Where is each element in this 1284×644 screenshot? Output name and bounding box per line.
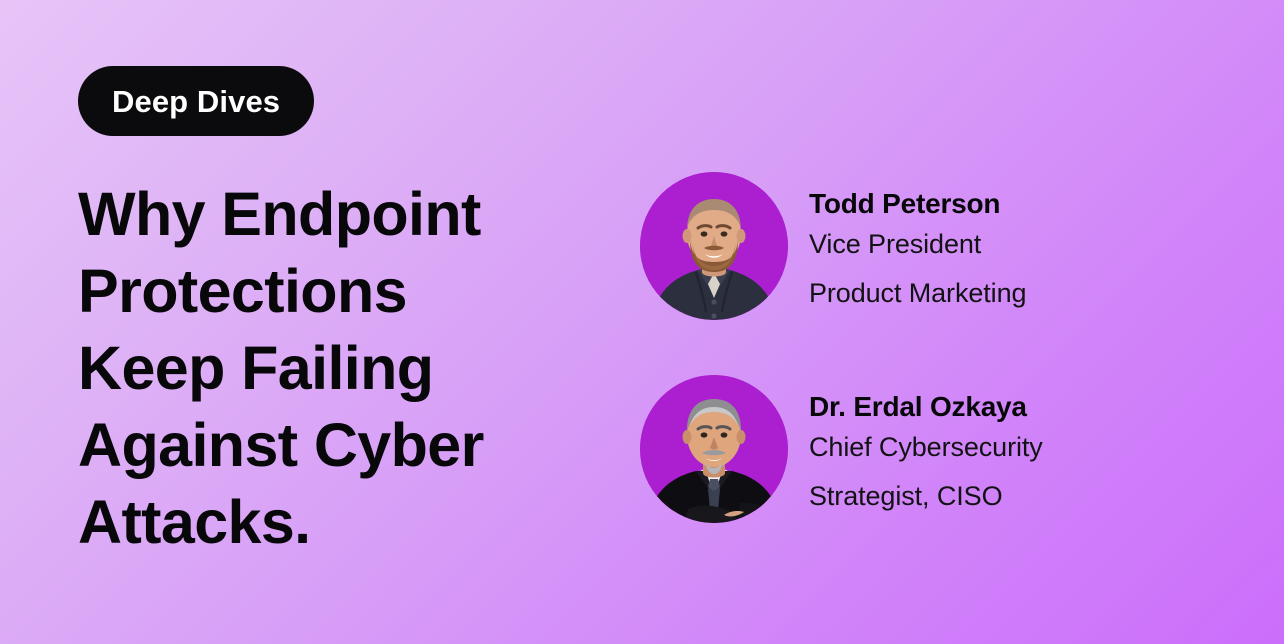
headline-line-3: Keep Failing — [78, 330, 618, 407]
portrait-photo-todd-peterson-icon — [640, 172, 788, 320]
speaker-role-line-1: Vice President — [809, 220, 1026, 269]
webinar-promo-banner: Deep Dives Why Endpoint Protections Keep… — [0, 0, 1284, 644]
headline-line-2: Protections — [78, 253, 618, 330]
category-badge-label: Deep Dives — [112, 86, 280, 117]
page-title: Why Endpoint Protections Keep Failing Ag… — [78, 176, 618, 561]
headline-line-5: Attacks. — [78, 484, 618, 561]
speaker-name: Todd Peterson — [809, 187, 1026, 220]
category-badge-deep-dives[interactable]: Deep Dives — [78, 66, 314, 136]
speaker-info: Dr. Erdal Ozkaya Chief Cybersecurity Str… — [809, 375, 1043, 521]
portrait-photo-erdal-ozkaya-icon — [640, 375, 788, 523]
avatar — [640, 375, 788, 523]
speaker-info: Todd Peterson Vice President Product Mar… — [809, 172, 1026, 318]
speaker-list: Todd Peterson Vice President Product Mar… — [640, 172, 1043, 523]
avatar — [640, 172, 788, 320]
headline-line-4: Against Cyber — [78, 407, 618, 484]
speaker-name: Dr. Erdal Ozkaya — [809, 390, 1043, 423]
speaker-role-line-1: Chief Cybersecurity — [809, 423, 1043, 472]
headline-line-1: Why Endpoint — [78, 176, 618, 253]
speaker-role-line-2: Product Marketing — [809, 269, 1026, 318]
speaker-row: Todd Peterson Vice President Product Mar… — [640, 172, 1043, 320]
speaker-row: Dr. Erdal Ozkaya Chief Cybersecurity Str… — [640, 375, 1043, 523]
speaker-role-line-2: Strategist, CISO — [809, 472, 1043, 521]
